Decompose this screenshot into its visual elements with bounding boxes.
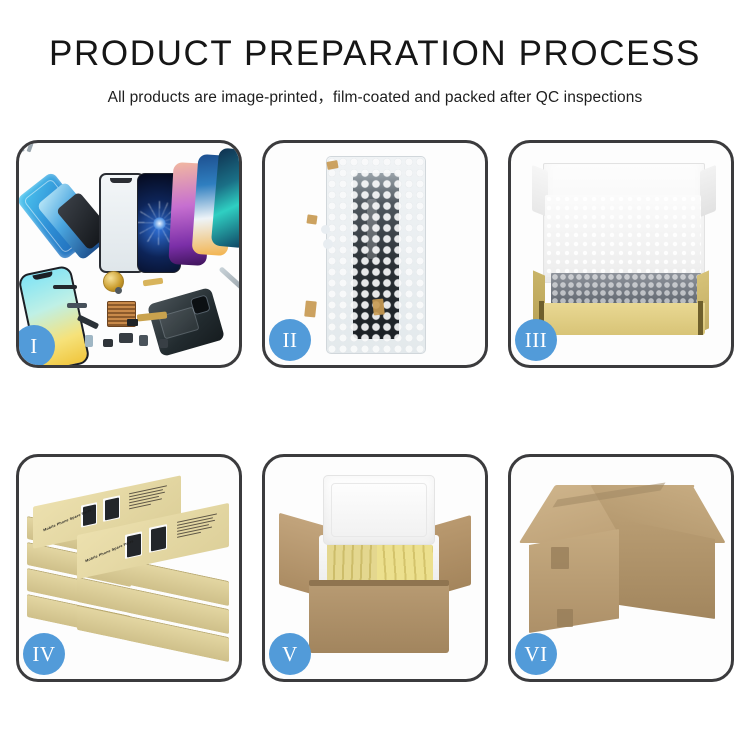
step-badge-5: V [269, 633, 311, 675]
screws-part [19, 143, 35, 153]
panel-open-yellow-box: III [508, 140, 734, 368]
camera-part [85, 335, 93, 347]
page-subtitle: All products are image-printed，film-coat… [0, 85, 750, 107]
vibrator-part [159, 339, 168, 348]
step-badge-6: VI [515, 633, 557, 675]
box-spec-lines [177, 513, 219, 540]
sim-tray-part [127, 319, 138, 326]
chip-part [103, 339, 113, 347]
gold-connector-part [143, 278, 164, 287]
box-spec-lines [129, 485, 169, 512]
carton-front-wall [309, 585, 449, 653]
carton-tab [551, 547, 569, 569]
poster-root: PRODUCT PREPARATION PROCESS All products… [0, 0, 750, 750]
foam-lid-open [323, 475, 435, 545]
panel-parts-overview: I [16, 140, 242, 368]
box-corner-right [698, 301, 703, 335]
step-badge-2: II [269, 319, 311, 361]
flex-cable-part [53, 285, 77, 289]
header: PRODUCT PREPARATION PROCESS All products… [0, 0, 750, 107]
printed-phone-swatch [149, 524, 167, 553]
process-grid: I II [16, 140, 734, 682]
bubble-highlight-layer [327, 157, 425, 353]
tape-strip [306, 214, 317, 224]
ribbon-part [67, 303, 87, 308]
panel-stacked-boxes: Mobile Phone Spare Parts Mo [16, 454, 242, 682]
step-badge-4: IV [23, 633, 65, 675]
box-front-wall [539, 303, 705, 335]
panel-1-image [19, 143, 239, 365]
wrapped-parts-layer [551, 273, 701, 307]
carton-tab [557, 609, 573, 627]
panel-sealed-carton: VI [508, 454, 734, 682]
tape-strip [304, 300, 317, 317]
camera-highlight [321, 225, 330, 234]
printed-phone-swatch [103, 495, 120, 522]
tape-strip [372, 298, 385, 315]
step-badge-3: III [515, 319, 557, 361]
panel-bubble-wrapped-part: II [262, 140, 488, 368]
carton-face-left [529, 529, 619, 633]
button-part [139, 335, 148, 346]
bubble-wrap-bag [327, 157, 425, 353]
bracket-part [119, 333, 133, 343]
lens-part [115, 287, 122, 294]
panel-carton-packing: V [262, 454, 488, 682]
tweezer-tool-icon [218, 266, 239, 296]
sensor-highlight [323, 239, 333, 249]
page-title: PRODUCT PREPARATION PROCESS [0, 36, 750, 71]
foam-sheet [545, 195, 701, 277]
